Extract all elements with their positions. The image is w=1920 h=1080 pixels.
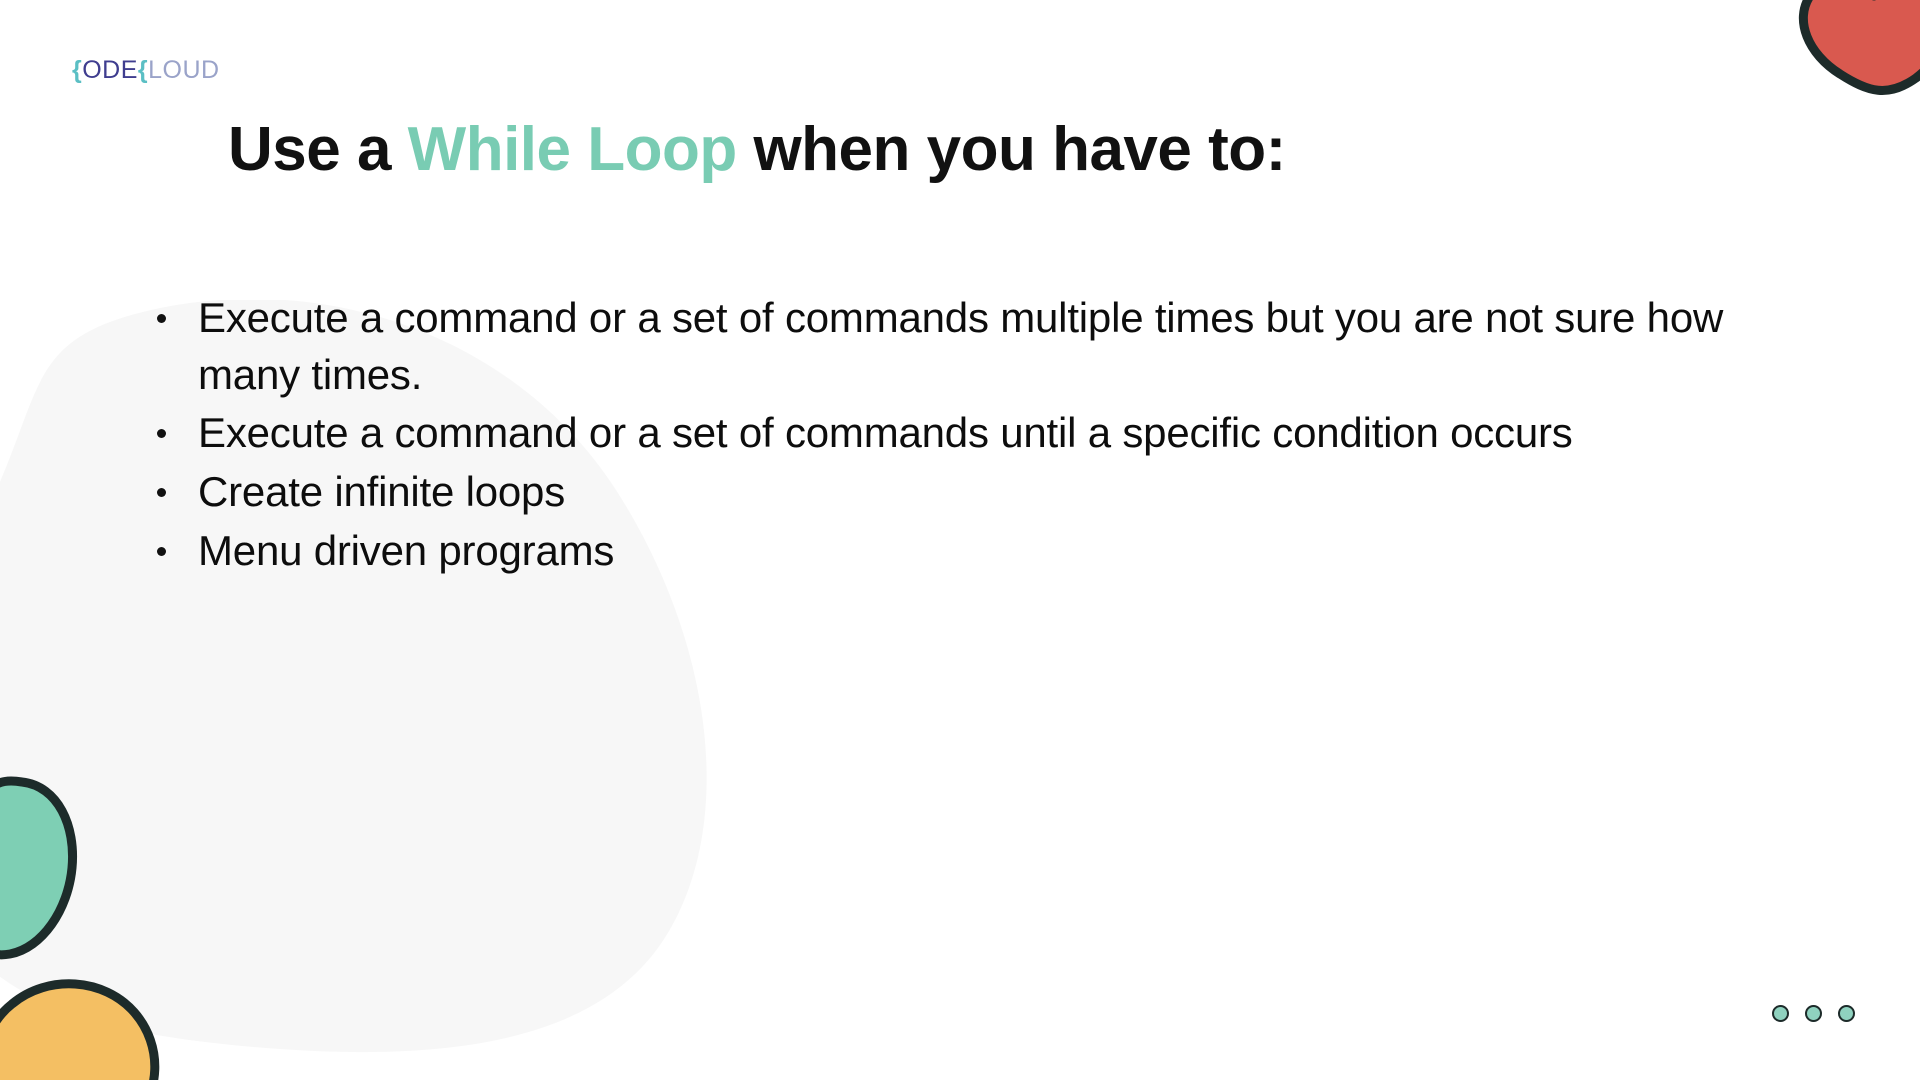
title-tail: when you have to:	[737, 115, 1286, 184]
mint-blob-icon	[0, 772, 90, 962]
list-item: Execute a command or a set of commands u…	[143, 405, 1783, 462]
title-lead: Use a	[228, 115, 408, 184]
title-accent: While Loop	[408, 115, 737, 184]
logo-text-kloud: LOUD	[148, 56, 219, 85]
list-item: Create infinite loops	[143, 464, 1783, 521]
slide-canvas: {ODE{LOUD Use a While Loop when you have…	[0, 0, 1920, 1080]
pager-dot-3[interactable]	[1838, 1005, 1855, 1022]
logo-text-kode: ODE	[82, 56, 138, 85]
pager-dot-1[interactable]	[1772, 1005, 1789, 1022]
amber-blob-icon	[0, 960, 167, 1080]
list-item: Execute a command or a set of commands m…	[143, 290, 1783, 403]
list-item: Menu driven programs	[143, 523, 1783, 580]
bullet-list: Execute a command or a set of commands m…	[143, 290, 1783, 581]
logo-brace-2: {	[138, 56, 148, 85]
kodekloud-logo[interactable]: {ODE{LOUD	[72, 56, 220, 85]
pager-dots[interactable]	[1772, 1005, 1855, 1022]
page-title: Use a While Loop when you have to:	[228, 117, 1286, 182]
red-blob-icon	[1788, 0, 1920, 112]
pager-dot-2[interactable]	[1805, 1005, 1822, 1022]
logo-brace-1: {	[72, 56, 82, 85]
